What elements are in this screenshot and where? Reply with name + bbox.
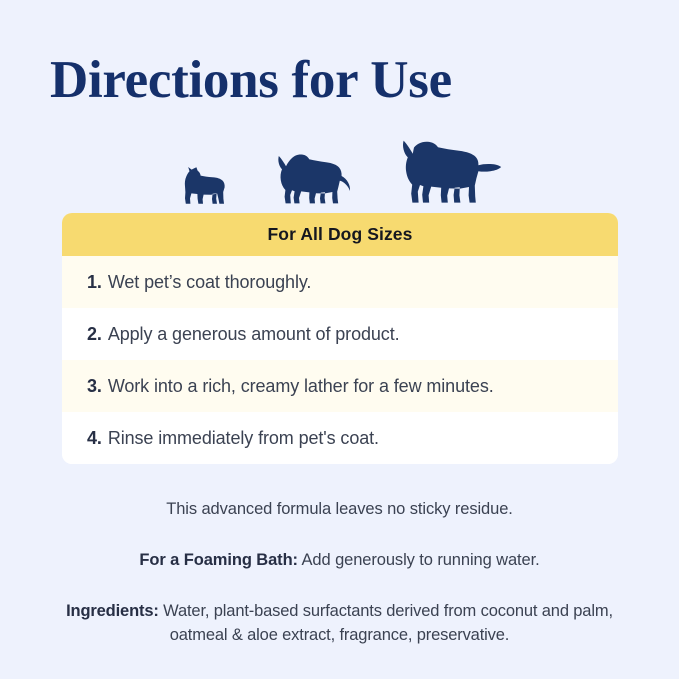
directions-for-use-panel: Directions for Use For All Dog Sizes 1. … [0,0,679,679]
step-number: 1. [87,272,102,293]
step-number: 3. [87,376,102,397]
footer-notes: This advanced formula leaves no sticky r… [40,498,639,647]
ingredients-text: Water, plant-based surfactants derived f… [159,602,613,643]
dog-silhouette-large-icon [392,140,502,206]
step-number: 2. [87,324,102,345]
step-text: Wet pet’s coat thoroughly. [108,272,312,293]
step-text: Rinse immediately from pet's coat. [108,428,379,449]
directions-card: For All Dog Sizes 1. Wet pet’s coat thor… [62,213,618,464]
step-row: 3. Work into a rich, creamy lather for a… [62,360,618,412]
step-number: 4. [87,428,102,449]
dog-size-illustration [62,134,618,206]
ingredients-label: Ingredients: [66,602,159,620]
card-header-label: For All Dog Sizes [268,224,413,245]
foaming-bath-label: For a Foaming Bath: [139,551,298,569]
step-text: Work into a rich, creamy lather for a fe… [108,376,494,397]
dog-silhouette-medium-icon [270,152,352,206]
note-residue: This advanced formula leaves no sticky r… [40,498,639,521]
note-foaming-bath: For a Foaming Bath: Add generously to ru… [40,549,639,572]
card-header: For All Dog Sizes [62,213,618,256]
step-row: 2. Apply a generous amount of product. [62,308,618,360]
step-text: Apply a generous amount of product. [108,324,400,345]
step-row: 1. Wet pet’s coat thoroughly. [62,256,618,308]
step-row: 4. Rinse immediately from pet's coat. [62,412,618,464]
dog-silhouette-small-icon [178,166,230,206]
foaming-bath-text: Add generously to running water. [298,551,540,569]
note-ingredients: Ingredients: Water, plant-based surfacta… [40,600,639,647]
page-title: Directions for Use [50,53,452,109]
